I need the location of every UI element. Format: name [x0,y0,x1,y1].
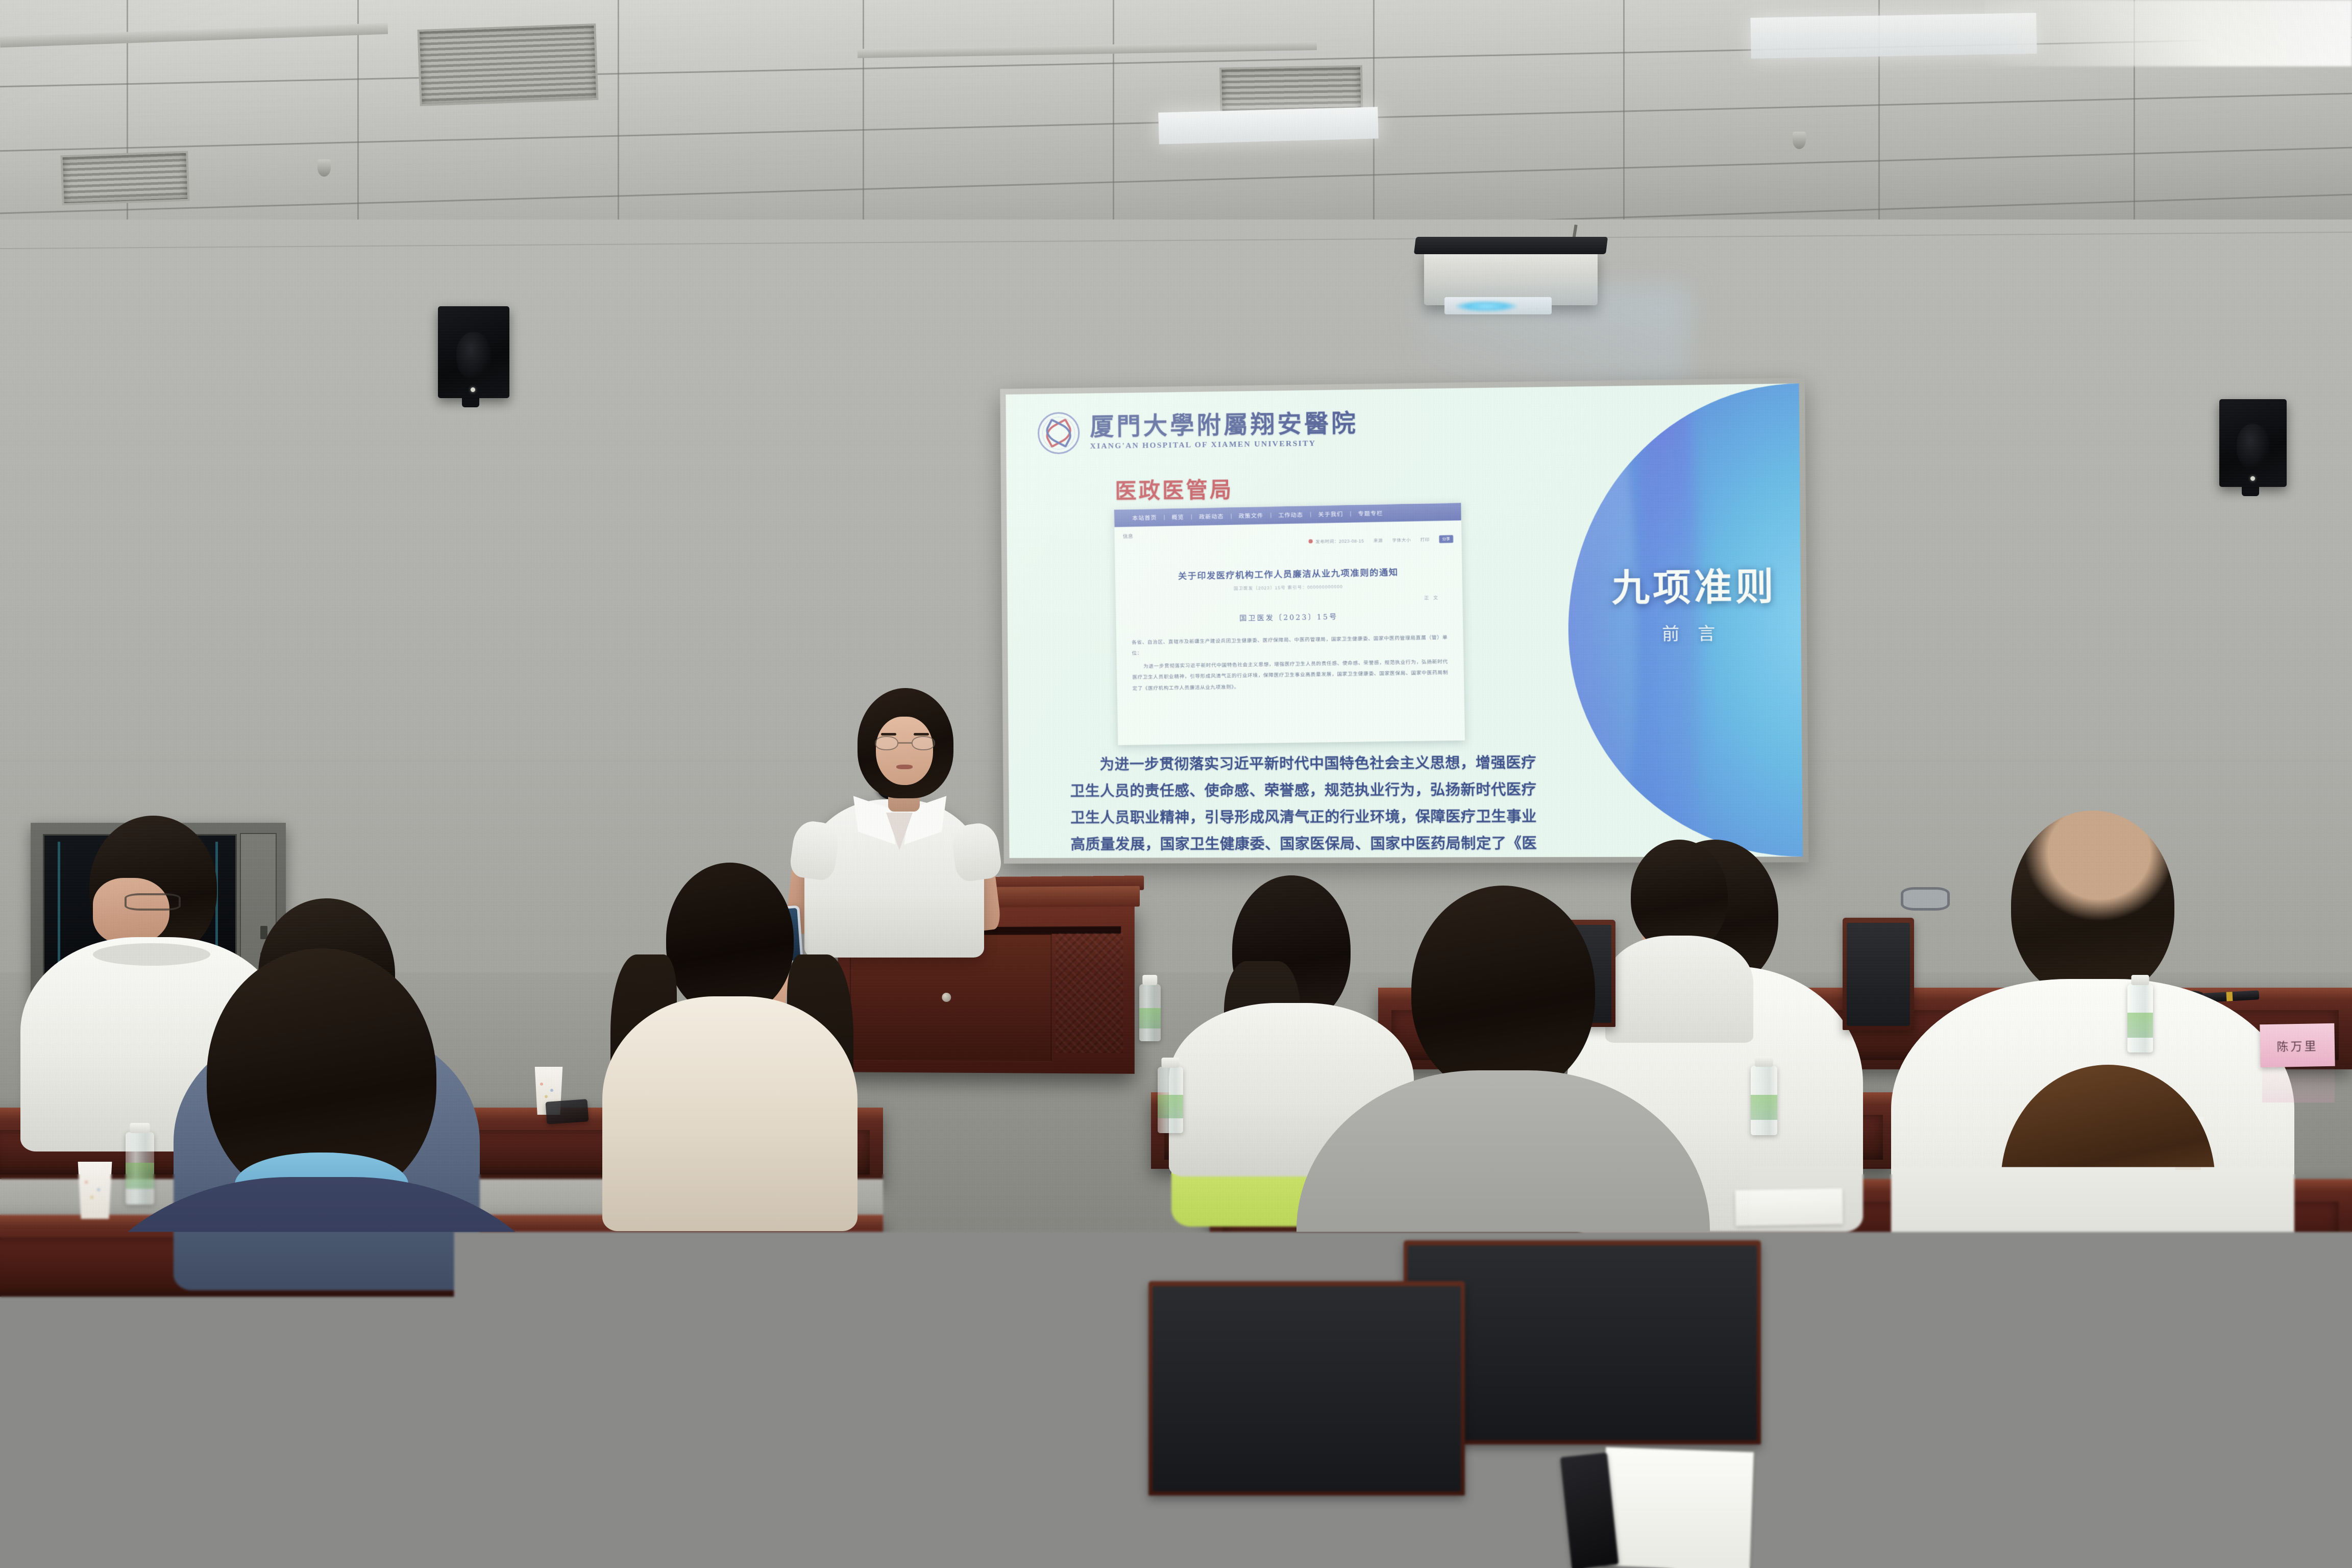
audience-head [666,863,794,1016]
presentation-slide: 九项准则 前 言 厦門大學附屬翔安醫院 XIANG'AN HOSPITAL OF… [1006,383,1803,858]
bottle-label [2127,1013,2153,1037]
wall-speaker-left [438,306,509,398]
water-bottle[interactable] [1858,1249,1897,1438]
doc-paragraph: 为进一步贯彻落实习近平新时代中国特色社会主义思想，增强医疗卫生人员的责任感、使命… [1132,656,1449,694]
meta-print: 打印 [1420,536,1430,543]
bottle-label [1139,1008,1161,1028]
audience-torso [602,996,857,1231]
audience-torso [66,1177,577,1568]
presenter-glasses-icon [875,736,935,750]
slide-section-heading: 医政医管局 [1115,473,1233,505]
speaker-led-icon [2250,476,2255,481]
audience-torso [1296,1070,1710,1433]
bottle-cap [1162,1058,1180,1068]
projector-mount-plate [1414,237,1608,254]
slide-body-paragraph: 为进一步贯彻落实习近平新时代中国特色社会主义思想，增强医疗卫生人员的责任感、使命… [1070,749,1537,858]
audience-head [1411,886,1595,1095]
meta-date: 发布时间：2023-08-15 [1309,537,1364,545]
bottle-label [1751,1095,1777,1120]
website-document-tag: 正 文 [1424,594,1439,601]
water-bottle[interactable] [2127,984,2153,1052]
hvac-vent-icon [60,151,189,206]
podium-carving [1056,933,1123,1053]
website-document-title: 关于印发医疗机构工作人员廉洁从业九项准则的通知 [1115,564,1462,583]
water-bottle[interactable] [1751,1066,1777,1135]
audience-member-9 [1883,1065,2333,1568]
meta-share-badge: 分享 [1439,535,1453,543]
bottle-cap [1142,975,1157,985]
audience-torso [1889,1305,2327,1568]
hvac-vent-icon [417,23,598,106]
nav-item: 政新动态 [1192,512,1231,521]
meta-date-text: 发布时间：2023-08-15 [1315,538,1364,544]
audience-member-3 [61,948,582,1568]
website-breadcrumb: 信息 [1123,532,1133,540]
sprinkler-icon [317,159,331,177]
ceiling-light-panel [1158,107,1378,144]
nav-item: 专题专栏 [1351,509,1390,518]
bottle-cap [1864,1234,1891,1252]
wall-speaker-right [2219,399,2287,487]
shoe [868,1444,929,1493]
audience-member-4 [597,863,863,1230]
document-papers[interactable] [1602,1447,1754,1568]
name-card: 陈万里 [2260,1023,2335,1068]
projection-screen: 九项准则 前 言 厦門大學附屬翔安醫院 XIANG'AN HOSPITAL OF… [1000,378,1808,864]
window-glare [1984,0,2352,66]
water-bottle[interactable] [1158,1067,1183,1133]
bottle-cap [2131,975,2149,985]
website-meta-row: 发布时间：2023-08-15 来源 字体大小 打印 分享 [1309,535,1453,545]
meta-fontsize: 字体大小 [1392,536,1411,543]
podium-knob-icon [942,993,951,1002]
audience-member-6 [1291,886,1715,1437]
doc-paragraph: 各省、自治区、直辖市及新疆生产建设兵团卫生健康委、医疗保障局、中医药管理局，国家… [1132,632,1448,659]
slide-panel-title: 九项准则 [1607,555,1782,611]
nav-item: 关于我们 [1311,510,1350,519]
water-bottle[interactable] [1139,984,1161,1041]
website-document-number: 国卫医发〔2023〕15号 [1116,609,1463,625]
meta-source: 来源 [1374,537,1383,543]
ceiling-projector [1424,250,1598,305]
nav-item: 政策文件 [1232,511,1270,521]
nav-item: 概览 [1165,513,1191,522]
website-navbar: 本站首页 | 概览 | 政新动态 | 政策文件 | 工作动态 | 关于我们 | … [1114,503,1461,527]
meta-dot-icon [1309,539,1313,543]
conference-room-photo: 九项准则 前 言 厦門大學附屬翔安醫院 XIANG'AN HOSPITAL OF… [0,0,2352,1568]
embedded-website-screenshot: 本站首页 | 概览 | 政新动态 | 政策文件 | 工作动态 | 关于我们 | … [1114,503,1465,745]
nav-item: 本站首页 [1125,513,1164,523]
name-card-text: 陈万里 [2276,1036,2318,1054]
bottle-cap [1755,1057,1773,1067]
bottle-label [1158,1095,1183,1119]
hospital-emblem-icon [1038,412,1080,454]
website-document-subtitle: 国卫医发〔2023〕15号 索引号：000000000000 [1115,581,1462,594]
speaker-led-icon [471,387,475,392]
website-document-body: 各省、自治区、直辖市及新疆生产建设兵团卫生健康委、医疗保障局、中医药管理局，国家… [1132,632,1449,696]
sprinkler-icon [1793,132,1806,149]
chair-right-2 [1843,918,1914,1030]
audience-glasses-icon [1901,887,1950,911]
presenter-mouth [896,765,913,769]
presenter-face [876,717,933,785]
audience-head [2011,811,2174,999]
bottle-label [1858,1329,1897,1396]
projector-lens-glow-icon [1456,301,1517,311]
hospital-name-cn: 厦門大學附屬翔安醫院 [1090,411,1358,440]
slide-panel-subtitle: 前 言 [1607,619,1777,645]
hospital-logo: 厦門大學附屬翔安醫院 XIANG'AN HOSPITAL OF XIAMEN U… [1038,408,1359,455]
nav-item: 工作动态 [1271,510,1310,520]
audience-face [93,878,169,944]
document-papers[interactable] [1735,1188,1843,1226]
